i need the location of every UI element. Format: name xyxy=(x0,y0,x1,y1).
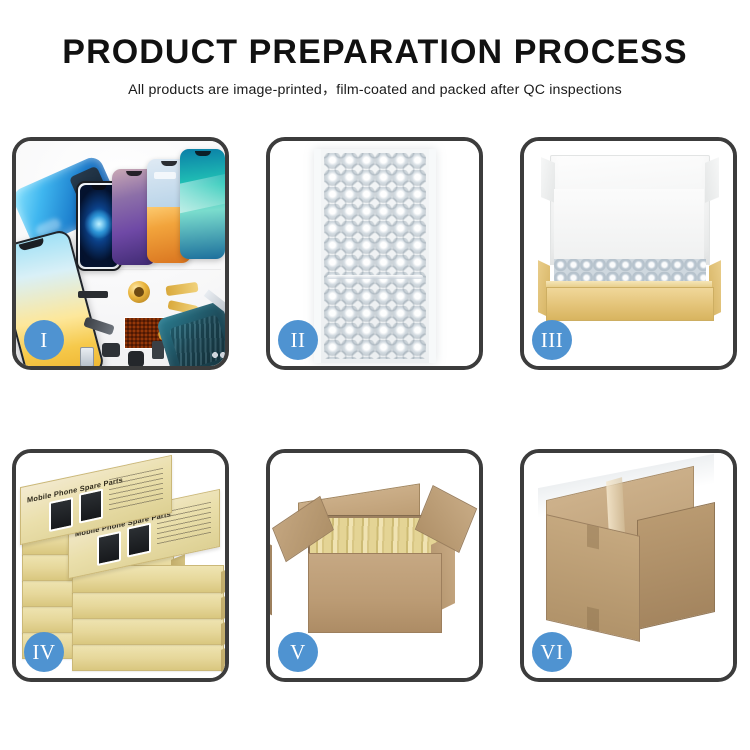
process-steps-grid: I II III xyxy=(12,137,738,682)
carton-left-side xyxy=(270,533,272,616)
bubble-wrap-icon xyxy=(314,149,436,363)
connector-bar-part-icon xyxy=(78,291,108,298)
box-front-panel xyxy=(546,287,714,321)
stacked-box-item xyxy=(72,643,224,671)
step-badge-2: II xyxy=(278,320,318,360)
screws-icon xyxy=(212,351,225,359)
foam-insert-icon xyxy=(554,189,704,259)
step-panel-sealed-carton: VI xyxy=(520,449,737,682)
step-badge-1: I xyxy=(24,320,64,360)
stacked-box-item xyxy=(72,617,224,645)
step-panel-bubble-wrap: II xyxy=(266,137,483,370)
stacked-box-item xyxy=(72,591,224,619)
step-badge-6: VI xyxy=(532,632,572,672)
camera-module-part-icon xyxy=(128,351,144,366)
coil-part-icon xyxy=(128,281,150,303)
carton-right-panel xyxy=(637,502,715,630)
step-panel-stacked-boxes: Mobile Phone Spare Parts Mobile Phone Sp… xyxy=(12,449,229,682)
step-panel-inner-box: III xyxy=(520,137,737,370)
carton-front-panel xyxy=(308,553,442,633)
phone-teal-icon xyxy=(180,149,225,259)
flex-cable-part-icon xyxy=(165,282,198,296)
step-panel-open-carton: V xyxy=(266,449,483,682)
step-badge-4: IV xyxy=(24,632,64,672)
page-subtitle: All products are image-printed，film-coat… xyxy=(0,79,750,99)
product-preparation-page: PRODUCT PREPARATION PROCESS All products… xyxy=(0,0,750,750)
page-header: PRODUCT PREPARATION PROCESS All products… xyxy=(0,34,750,99)
step-panel-products: I xyxy=(12,137,229,370)
speaker-part-icon xyxy=(102,343,120,357)
carton-left-panel xyxy=(546,514,640,642)
step-badge-5: V xyxy=(278,632,318,672)
step-badge-3: III xyxy=(532,320,572,360)
sim-tray-part-icon xyxy=(80,347,94,366)
page-title: PRODUCT PREPARATION PROCESS xyxy=(0,34,750,71)
